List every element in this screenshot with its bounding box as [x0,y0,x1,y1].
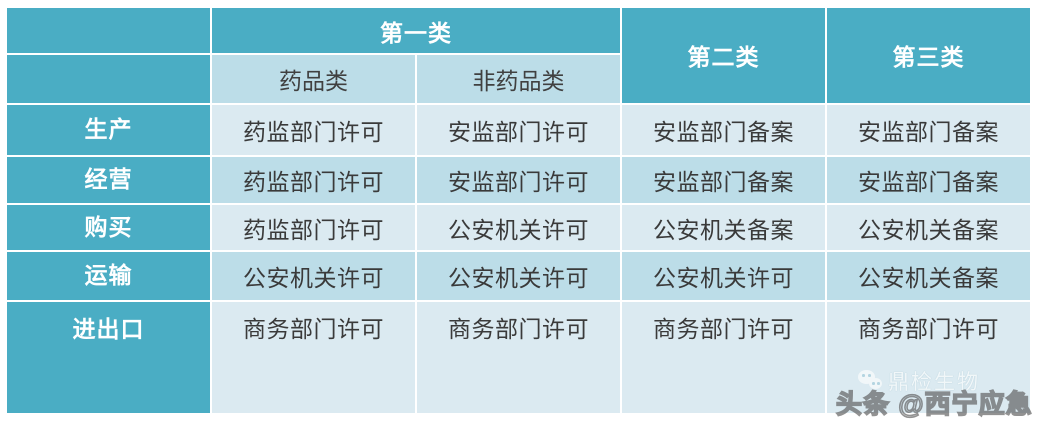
header-subcolumn-nondrug: 非药品类 [417,55,622,104]
table-row: 生产 药监部门许可 安监部门许可 安监部门备案 安监部门备案 [7,105,1032,158]
cell-production-nondrug: 安监部门许可 [417,105,622,158]
row-label-operation: 经营 [7,157,212,204]
cell-transport-cat2: 公安机关许可 [622,252,827,301]
cell-transport-drug: 公安机关许可 [212,252,417,301]
table-row: 购买 药监部门许可 公安机关许可 公安机关备案 公安机关备案 [7,205,1032,252]
cell-purchase-nondrug: 公安机关许可 [417,205,622,252]
table-row: 运输 公安机关许可 公安机关许可 公安机关许可 公安机关备案 [7,252,1032,301]
cell-production-cat2: 安监部门备案 [622,105,827,158]
cell-production-cat3: 安监部门备案 [827,105,1032,158]
cell-operation-cat2: 安监部门备案 [622,157,827,204]
header-subcolumn-drug: 药品类 [212,55,417,104]
cell-import-export-cat3: 商务部门许可 [827,302,1032,413]
cell-operation-drug: 药监部门许可 [212,157,417,204]
cell-purchase-cat2: 公安机关备案 [622,205,827,252]
row-label-purchase: 购买 [7,205,212,252]
row-label-import-export: 进出口 [7,302,212,413]
header-group-category-3: 第三类 [827,8,1032,105]
cell-import-export-nondrug: 商务部门许可 [417,302,622,413]
cell-production-drug: 药监部门许可 [212,105,417,158]
cell-transport-cat3: 公安机关备案 [827,252,1032,301]
row-label-production: 生产 [7,105,212,158]
header-corner-cell [7,8,212,55]
cell-operation-nondrug: 安监部门许可 [417,157,622,204]
header-group-category-1: 第一类 [212,8,622,55]
cell-purchase-cat3: 公安机关备案 [827,205,1032,252]
header-group-category-2: 第二类 [622,8,827,105]
regulation-table-container: 第一类 第二类 第三类 药品类 非药品类 生产 药监部门许可 安监部门许可 安监… [7,8,1032,413]
cell-import-export-cat2: 商务部门许可 [622,302,827,413]
table-row: 进出口 商务部门许可 商务部门许可 商务部门许可 商务部门许可 [7,302,1032,413]
row-label-transport: 运输 [7,252,212,301]
header-corner-cell-lower [7,55,212,104]
regulation-table: 第一类 第二类 第三类 药品类 非药品类 生产 药监部门许可 安监部门许可 安监… [7,8,1032,413]
table-row: 经营 药监部门许可 安监部门许可 安监部门备案 安监部门备案 [7,157,1032,204]
table-header-row-groups: 第一类 第二类 第三类 [7,8,1032,55]
cell-purchase-drug: 药监部门许可 [212,205,417,252]
cell-transport-nondrug: 公安机关许可 [417,252,622,301]
cell-import-export-drug: 商务部门许可 [212,302,417,413]
cell-operation-cat3: 安监部门备案 [827,157,1032,204]
